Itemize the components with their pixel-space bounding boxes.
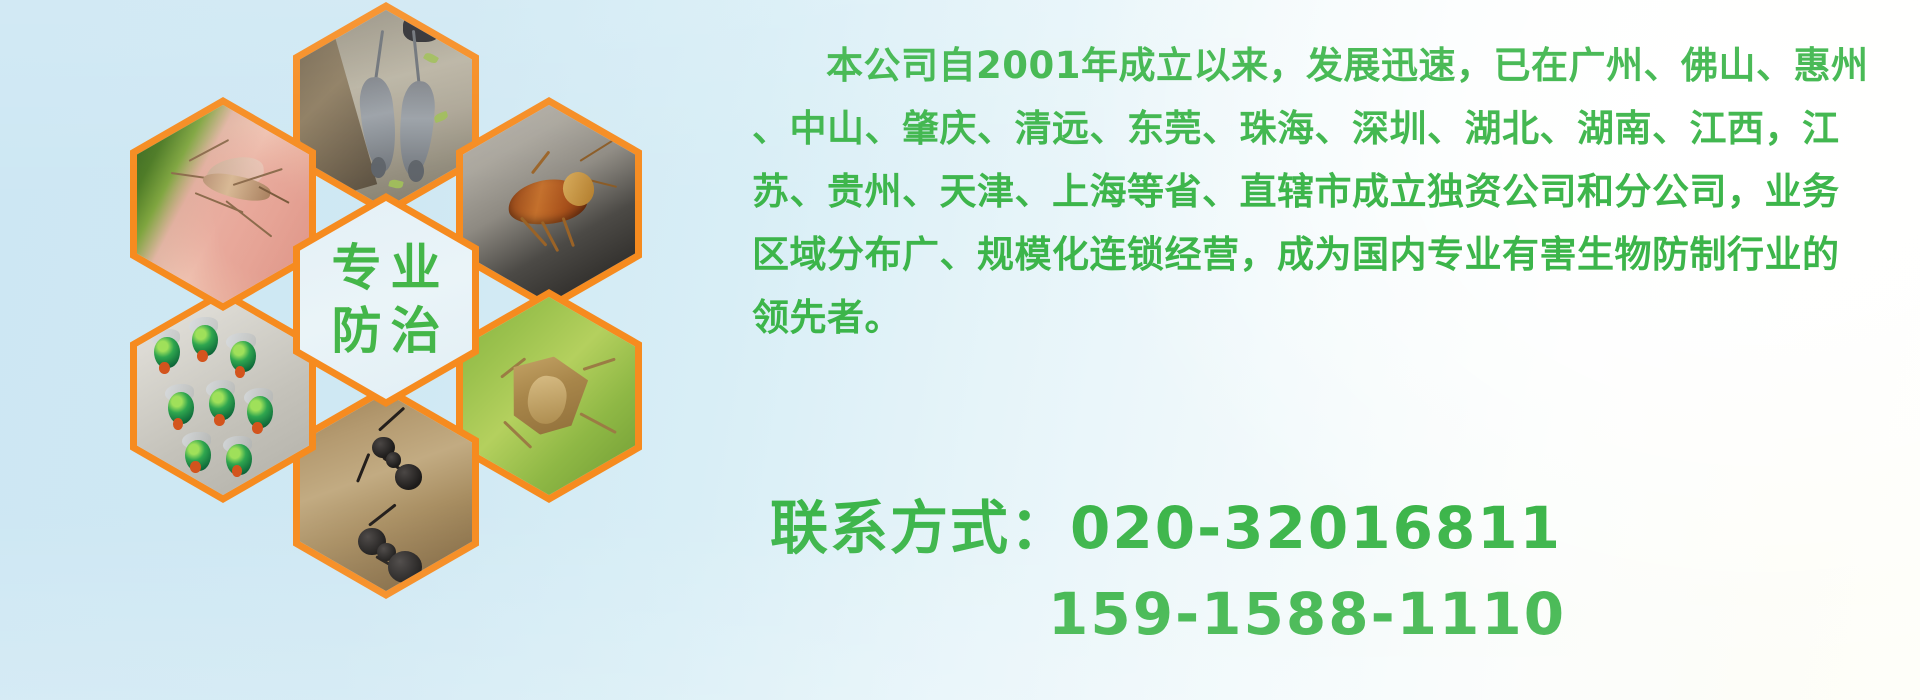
cockroach-photo[interactable]	[456, 97, 642, 311]
mosquito-photo[interactable]	[130, 97, 316, 311]
paragraph-line-2: 、中山、肇庆、清远、东莞、珠海、深圳、湖北、湖南、江西，江	[752, 97, 1890, 160]
company-description: 本公司自2001年成立以来，发展迅速，已在广州、佛山、惠州 、中山、肇庆、清远、…	[752, 34, 1890, 349]
contact-line-primary: 联系方式：020-32016811	[770, 494, 1562, 562]
contact-phone-mobile[interactable]: 159-1588-1110	[770, 571, 1566, 657]
pest-control-banner: 专业 防治 本公司自2001年成立以来，发展迅速，已在广州、佛山、惠州 、中山、…	[0, 0, 1920, 700]
stink-bug-photo[interactable]	[456, 289, 642, 503]
paragraph-line-4: 区域分布广、规模化连锁经营，成为国内专业有害生物防制行业的	[752, 223, 1890, 286]
contact-label: 联系方式：	[770, 494, 1070, 562]
rats-photo[interactable]	[293, 2, 479, 216]
badge-line-1: 专业	[323, 237, 450, 300]
flies-photo[interactable]	[130, 289, 316, 503]
ants-photo[interactable]	[293, 385, 479, 599]
paragraph-line-1: 本公司自2001年成立以来，发展迅速，已在广州、佛山、惠州	[752, 34, 1890, 97]
paragraph-line-5: 领先者。	[752, 286, 1890, 349]
badge-line-2: 防治	[323, 300, 450, 363]
contact-phone-main[interactable]: 020-32016811	[1070, 494, 1562, 562]
badge-professional-control: 专业 防治	[293, 193, 479, 407]
contact-block: 联系方式：020-32016811 159-1588-1110	[770, 485, 1566, 657]
hexagon-photo-cluster: 专业 防治	[96, 0, 706, 664]
paragraph-line-3: 苏、贵州、天津、上海等省、直辖市成立独资公司和分公司，业务	[752, 160, 1890, 223]
